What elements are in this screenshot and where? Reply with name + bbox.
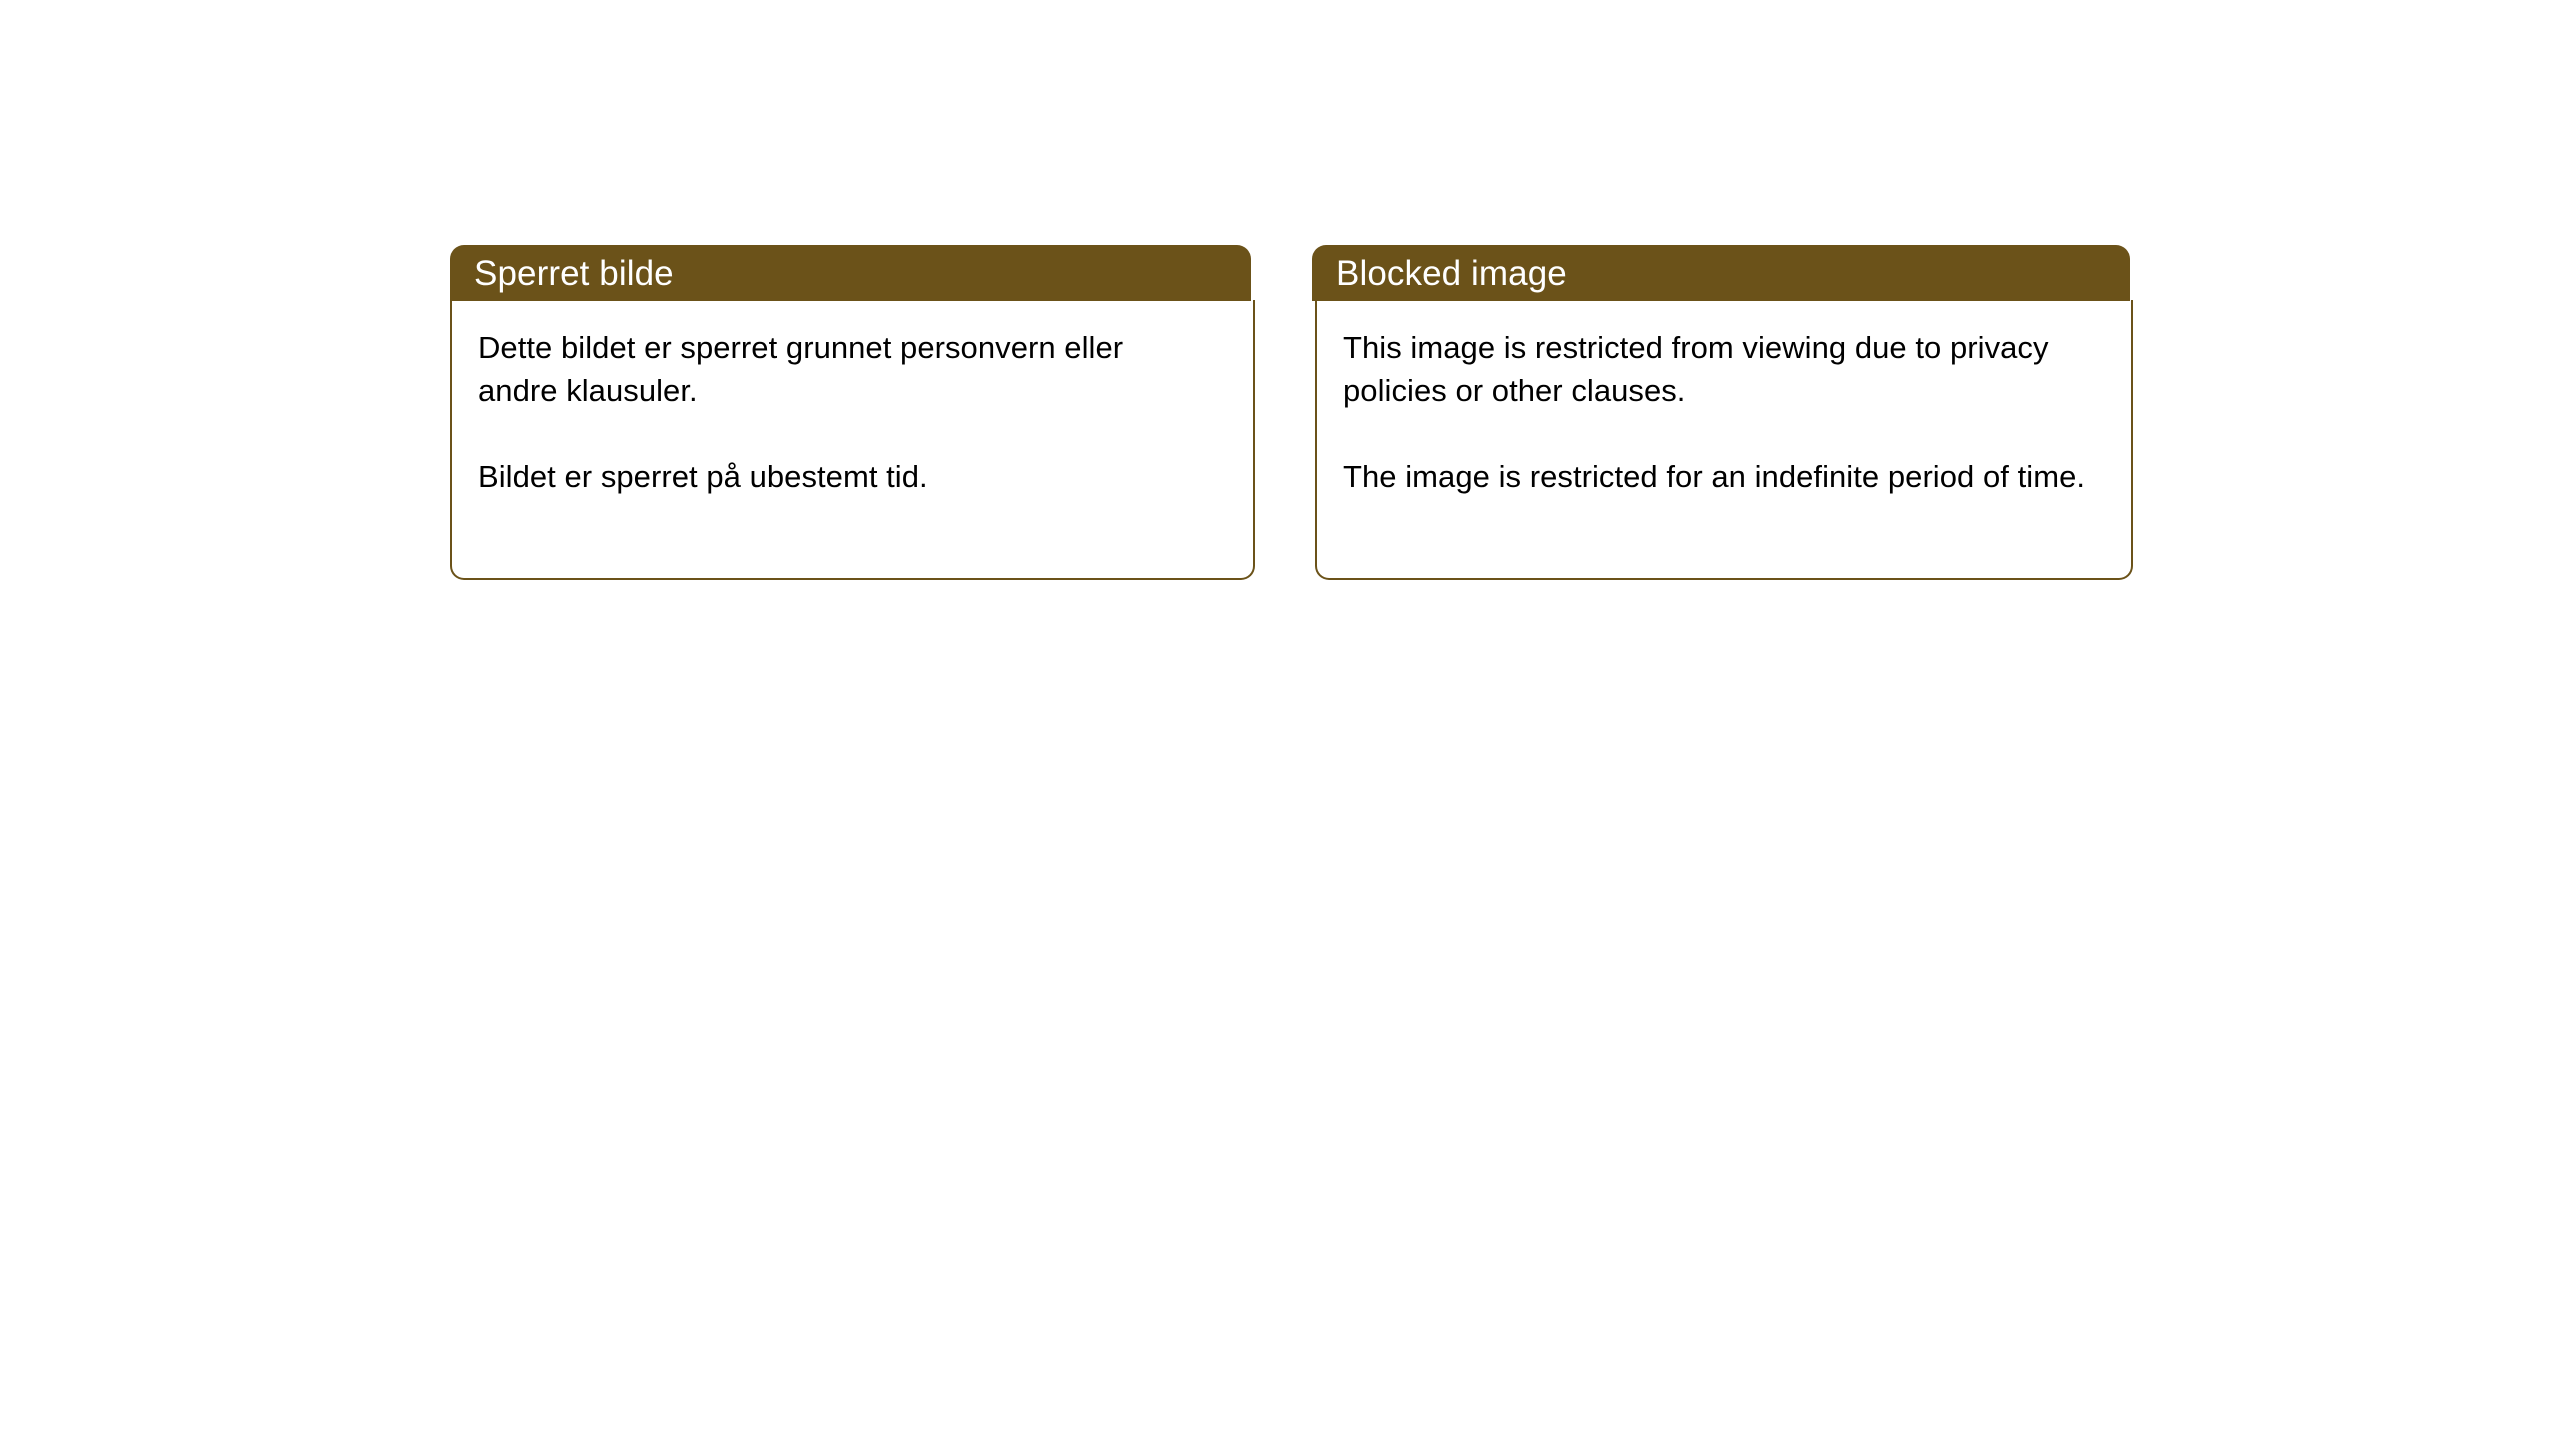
notice-paragraph-secondary-norwegian: Bildet er sperret på ubestemt tid. <box>478 455 1178 498</box>
page-root: Sperret bilde Dette bildet er sperret gr… <box>0 0 2560 1440</box>
notice-title-norwegian: Sperret bilde <box>450 256 674 291</box>
notice-body-norwegian: Dette bildet er sperret grunnet personve… <box>450 300 1255 580</box>
notice-title-english: Blocked image <box>1312 256 1567 291</box>
notice-body-inner-norwegian: Dette bildet er sperret grunnet personve… <box>452 300 1253 498</box>
paragraph-spacer <box>478 412 1227 455</box>
paragraph-spacer <box>1343 412 2105 455</box>
notice-body-english: This image is restricted from viewing du… <box>1315 300 2133 580</box>
notice-header-norwegian: Sperret bilde <box>450 245 1251 301</box>
notice-body-inner-english: This image is restricted from viewing du… <box>1317 300 2131 498</box>
blocked-image-notice-english: Blocked image This image is restricted f… <box>1315 245 2133 580</box>
notice-paragraph-primary-english: This image is restricted from viewing du… <box>1343 326 2103 412</box>
blocked-image-notice-norwegian: Sperret bilde Dette bildet er sperret gr… <box>450 245 1255 580</box>
notice-paragraph-secondary-english: The image is restricted for an indefinit… <box>1343 455 2103 498</box>
notice-header-english: Blocked image <box>1312 245 2130 301</box>
notice-paragraph-primary-norwegian: Dette bildet er sperret grunnet personve… <box>478 326 1178 412</box>
